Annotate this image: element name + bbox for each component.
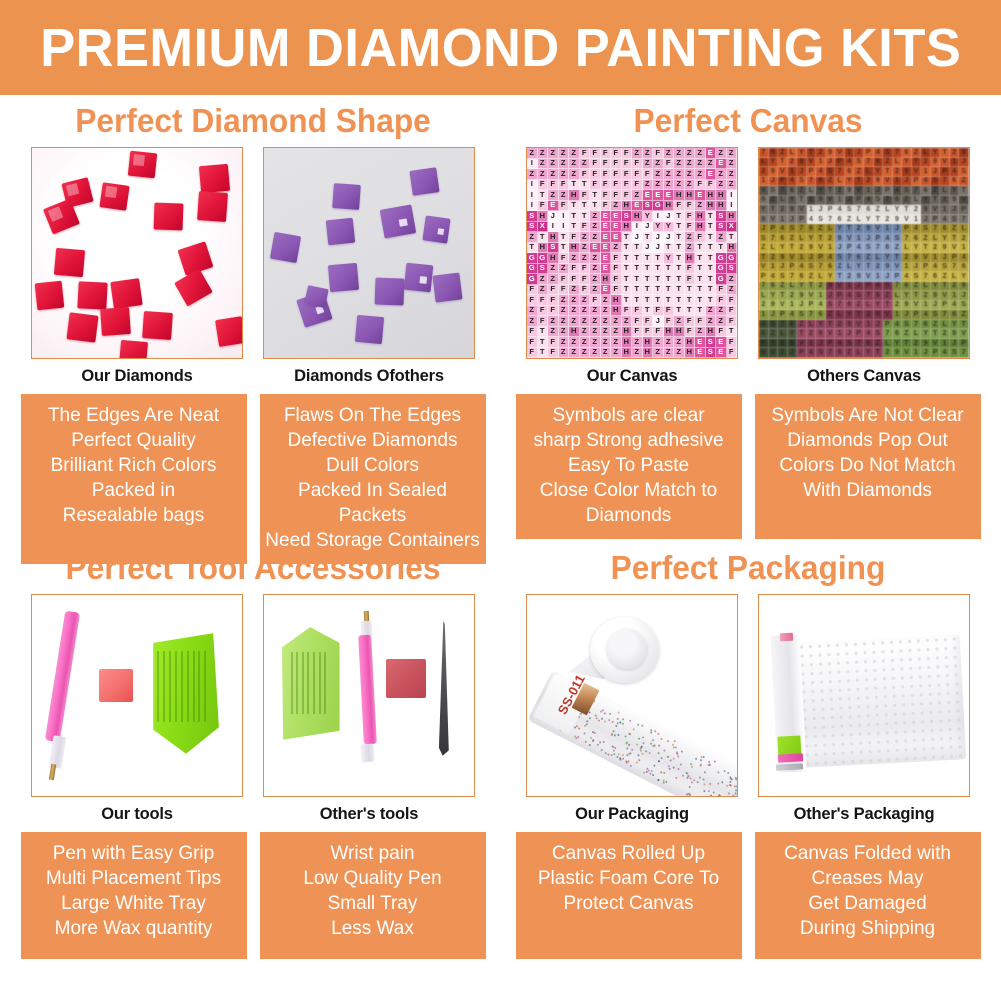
canvas-cell: 2	[854, 224, 864, 234]
canvas-cell: Y	[912, 243, 922, 253]
canvas-cell: V	[769, 215, 779, 225]
canvas-cell: 4	[797, 263, 807, 273]
canvas-cell: Z	[685, 243, 696, 254]
canvas-cell: P	[778, 177, 788, 187]
canvas-cell: T	[826, 320, 836, 330]
canvas-cell: Z	[590, 285, 601, 296]
canvas-cell: F	[527, 285, 538, 296]
canvas-cell: H	[716, 201, 727, 212]
canvas-cell: 9	[769, 167, 779, 177]
canvas-cell: L	[778, 329, 788, 339]
canvas-cell: T	[580, 180, 591, 191]
canvas-cell: F	[632, 327, 643, 338]
canvas-cell: P	[893, 272, 903, 282]
canvas-cell: Z	[611, 337, 622, 348]
canvas-cell: T	[643, 232, 654, 243]
canvas-cell: V	[854, 320, 864, 330]
canvas-cell: J	[874, 186, 884, 196]
canvas-cell: I	[559, 222, 570, 233]
canvas-cell: J	[778, 263, 788, 273]
canvas-cell: Z	[727, 169, 738, 180]
canvas-cell: T	[643, 306, 654, 317]
canvas-cell: F	[601, 169, 612, 180]
canvas-cell: 1	[854, 234, 864, 244]
canvas-cell: 4	[759, 186, 769, 196]
canvas-cell: 6	[912, 234, 922, 244]
canvas-cell: Z	[559, 148, 570, 159]
canvas-cell: T	[854, 310, 864, 320]
canvas-cell: 2	[864, 310, 874, 320]
canvas-cell: Z	[622, 316, 633, 327]
canvas-cell: S	[931, 310, 941, 320]
canvas-cell: Z	[826, 310, 836, 320]
canvas-cell: T	[674, 222, 685, 233]
canvas-cell: P	[902, 224, 912, 234]
canvas-cell: 1	[759, 177, 769, 187]
canvas-cell: 2	[912, 205, 922, 215]
canvas-cell: 6	[921, 320, 931, 330]
canvas-cell: 4	[864, 196, 874, 206]
canvas-cell: L	[883, 205, 893, 215]
canvas-cell: 6	[893, 196, 903, 206]
canvas-cell: T	[883, 167, 893, 177]
canvas-cell: F	[611, 148, 622, 159]
caption-row: Our Diamonds Diamonds Ofothers	[8, 367, 498, 386]
canvas-cell: 6	[893, 329, 903, 339]
canvas-cell: J	[759, 224, 769, 234]
canvas-cell: Z	[580, 243, 591, 254]
canvas-cell: Z	[931, 186, 941, 196]
canvas-cell: F	[632, 159, 643, 170]
section-title: Perfect Tool Accessories	[18, 545, 488, 591]
canvas-cell: L	[807, 186, 817, 196]
canvas-cell: F	[695, 180, 706, 191]
canvas-cell: Z	[559, 190, 570, 201]
canvas-cell: Z	[601, 306, 612, 317]
canvas-cell: T	[912, 291, 922, 301]
canvas-cell: 7	[778, 320, 788, 330]
canvas-cell: Z	[548, 190, 559, 201]
canvas-cell: J	[902, 310, 912, 320]
canvas-cell: 7	[788, 272, 798, 282]
canvas-cell: F	[548, 348, 559, 359]
canvas-cell: H	[643, 337, 654, 348]
canvas-cell: 4	[788, 310, 798, 320]
canvas-cell: Y	[845, 310, 855, 320]
canvas-cell: Z	[643, 148, 654, 159]
canvas-cell: Y	[816, 320, 826, 330]
canvas-cell: F	[685, 201, 696, 212]
canvas-cell: 1	[835, 329, 845, 339]
canvas-cell: S	[854, 158, 864, 168]
canvas-cell: S	[759, 234, 769, 244]
canvas-cell: 7	[854, 205, 864, 215]
canvas-cell: 7	[864, 291, 874, 301]
canvas-cell: Z	[874, 205, 884, 215]
canvas-cell: S	[883, 282, 893, 292]
canvas-cell: Z	[538, 169, 549, 180]
canvas-cell: F	[727, 295, 738, 306]
canvas-cell: Z	[590, 274, 601, 285]
canvas-cell: F	[611, 159, 622, 170]
canvas-cell: 9	[788, 339, 798, 349]
canvas-cell: J	[893, 224, 903, 234]
canvas-cell: 9	[835, 234, 845, 244]
canvas-cell: Z	[874, 339, 884, 349]
section-title: Perfect Canvas	[513, 98, 983, 144]
canvas-cell: J	[959, 291, 969, 301]
canvas-cell: Z	[727, 180, 738, 191]
canvas-cell: F	[706, 180, 717, 191]
canvas-cell: T	[569, 211, 580, 222]
canvas-cell: T	[902, 205, 912, 215]
canvas-cell: 4	[835, 339, 845, 349]
canvas-cell: Y	[664, 222, 675, 233]
canvas-cell: T	[643, 264, 654, 275]
canvas-cell: T	[643, 253, 654, 264]
canvas-cell: Y	[902, 291, 912, 301]
canvas-cell: Z	[727, 274, 738, 285]
canvas-cell: V	[826, 329, 836, 339]
section-tool-accessories: Perfect Tool Accessories	[8, 545, 498, 959]
canvas-cell: F	[716, 285, 727, 296]
canvas-cell: 2	[959, 234, 969, 244]
canvas-cell: F	[590, 295, 601, 306]
canvas-cell: P	[845, 243, 855, 253]
canvas-cell: Z	[706, 316, 717, 327]
canvas-cell: J	[807, 253, 817, 263]
canvas-cell: 1	[816, 291, 826, 301]
canvas-cell: T	[940, 282, 950, 292]
canvas-cell: H	[569, 243, 580, 254]
canvas-cell: 6	[883, 243, 893, 253]
canvas-cell: 9	[797, 291, 807, 301]
canvas-cell: 7	[959, 348, 969, 358]
canvas-cell: T	[674, 274, 685, 285]
canvas-cell: Y	[931, 148, 941, 158]
canvas-cell: T	[569, 180, 580, 191]
canvas-cell: H	[685, 337, 696, 348]
canvas-cell: L	[921, 282, 931, 292]
canvas-cell: T	[632, 274, 643, 285]
canvas-cell: T	[538, 232, 549, 243]
canvas-cell: 1	[883, 224, 893, 234]
canvas-cell: Z	[569, 306, 580, 317]
canvas-cell: Z	[845, 215, 855, 225]
canvas-cell: F	[601, 148, 612, 159]
canvas-cell: Y	[893, 339, 903, 349]
canvas-cell: Z	[685, 169, 696, 180]
canvas-cell: 4	[921, 177, 931, 187]
canvas-cell: Z	[921, 234, 931, 244]
canvas-cell: T	[632, 295, 643, 306]
canvas-cell: 6	[788, 186, 798, 196]
canvas-cell: F	[643, 316, 654, 327]
canvas-cell: H	[548, 232, 559, 243]
canvas-cell: V	[835, 282, 845, 292]
canvas-cell: P	[797, 215, 807, 225]
canvas-cell: 1	[893, 310, 903, 320]
canvas-cell: Z	[883, 291, 893, 301]
canvas-cell: F	[727, 337, 738, 348]
canvas-cell: S	[940, 263, 950, 273]
canvas-cell: 9	[874, 177, 884, 187]
canvas-cell: T	[902, 339, 912, 349]
canvas-cell: S	[816, 215, 826, 225]
canvas-cell: Z	[559, 316, 570, 327]
canvas-cell: 1	[950, 158, 960, 168]
canvas-cell: J	[931, 167, 941, 177]
canvas-cell: Y	[864, 215, 874, 225]
canvas-cell: 6	[874, 291, 884, 301]
canvas-cell: Z	[695, 148, 706, 159]
canvas-cell: H	[622, 337, 633, 348]
canvas-cell: T	[622, 232, 633, 243]
canvas-cell: 9	[921, 339, 931, 349]
canvas-cell: V	[816, 243, 826, 253]
canvas-cell: T	[695, 295, 706, 306]
canvas-cell: S	[527, 211, 538, 222]
canvas-cell: S	[959, 167, 969, 177]
canvas-cell: H	[643, 348, 654, 359]
canvas-cell: Z	[674, 159, 685, 170]
canvas-cell: F	[601, 180, 612, 191]
canvas-cell: Z	[940, 272, 950, 282]
canvas-cell: P	[959, 205, 969, 215]
canvas-cell: 1	[902, 263, 912, 273]
canvas-cell: L	[902, 243, 912, 253]
canvas-cell: Z	[569, 148, 580, 159]
canvas-cell: F	[611, 169, 622, 180]
canvas-cell: J	[921, 215, 931, 225]
canvas-cell: J	[788, 348, 798, 358]
canvas-cell: V	[940, 291, 950, 301]
canvas-cell: L	[835, 310, 845, 320]
canvas-cell: Y	[845, 177, 855, 187]
canvas-cell: 9	[845, 186, 855, 196]
canvas-cell: T	[685, 295, 696, 306]
canvas-cell: 9	[950, 329, 960, 339]
canvas-cell: F	[685, 222, 696, 233]
canvas-cell: L	[759, 291, 769, 301]
canvas-cell: X	[538, 222, 549, 233]
canvas-cell: P	[807, 301, 817, 311]
canvas-cell: L	[845, 263, 855, 273]
canvas-cell: F	[716, 327, 727, 338]
canvas-cell: T	[632, 243, 643, 254]
canvas-cell: Y	[653, 222, 664, 233]
canvas-cell: T	[653, 285, 664, 296]
canvas-cell: 4	[854, 243, 864, 253]
canvas-cell: V	[883, 177, 893, 187]
canvas-cell: Z	[580, 253, 591, 264]
canvas-cell: 7	[874, 243, 884, 253]
canvas-cell: Z	[580, 159, 591, 170]
canvas-cell: F	[632, 180, 643, 191]
canvas-cell: Y	[788, 196, 798, 206]
canvas-cell: J	[797, 167, 807, 177]
canvas-cell: I	[559, 211, 570, 222]
canvas-cell: J	[632, 232, 643, 243]
canvas-cell: 6	[816, 310, 826, 320]
canvas-cell: 9	[902, 301, 912, 311]
canvas-cell: F	[611, 274, 622, 285]
canvas-cell: L	[816, 272, 826, 282]
canvas-cell: 6	[759, 329, 769, 339]
canvas-cell: Z	[590, 316, 601, 327]
canvas-cell: 7	[807, 177, 817, 187]
canvas-cell: E	[643, 190, 654, 201]
canvas-cell: T	[769, 339, 779, 349]
canvas-cell: 1	[778, 348, 788, 358]
canvas-cell: 9	[816, 329, 826, 339]
canvas-cell: Z	[902, 329, 912, 339]
canvas-cell: Z	[548, 274, 559, 285]
canvas-cell: F	[538, 316, 549, 327]
comparison-boxes: Symbols are clear sharp Strong adhesive …	[503, 394, 993, 539]
canvas-cell: H	[674, 327, 685, 338]
caption-ours: Our tools	[31, 805, 243, 824]
canvas-cell: Y	[826, 272, 836, 282]
canvas-cell: L	[788, 148, 798, 158]
canvas-cell: 7	[940, 310, 950, 320]
canvas-cell: V	[778, 167, 788, 177]
canvas-cell: Z	[685, 180, 696, 191]
canvas-cell: T	[921, 243, 931, 253]
canvas-cell: 9	[959, 148, 969, 158]
canvas-cell: 4	[902, 272, 912, 282]
canvas-cell: E	[590, 243, 601, 254]
canvas-cell: 7	[893, 282, 903, 292]
canvas-cell: J	[643, 243, 654, 254]
canvas-cell: T	[797, 196, 807, 206]
comparison-boxes: Pen with Easy Grip Multi Placement Tips …	[8, 832, 498, 959]
canvas-cell: Z	[548, 169, 559, 180]
canvas-cell: V	[797, 205, 807, 215]
canvas-cell: F	[580, 274, 591, 285]
canvas-cell: J	[950, 205, 960, 215]
canvas-cell: V	[788, 253, 798, 263]
canvas-cell: I	[527, 190, 538, 201]
canvas-cell: H	[622, 327, 633, 338]
canvas-cell: P	[864, 282, 874, 292]
canvas-cell: E	[664, 190, 675, 201]
canvas-cell: V	[874, 224, 884, 234]
canvas-cell: 9	[950, 196, 960, 206]
canvas-cell: T	[538, 337, 549, 348]
caption-row: Our Packaging Other's Packaging	[503, 805, 993, 824]
canvas-cell: Y	[902, 158, 912, 168]
canvas-cell: T	[893, 253, 903, 263]
canvas-cell: 6	[864, 339, 874, 349]
canvas-cell: J	[874, 320, 884, 330]
canvas-cell: P	[959, 339, 969, 349]
canvas-cell: 4	[874, 282, 884, 292]
canvas-cell: I	[527, 159, 538, 170]
caption-ours: Our Diamonds	[31, 367, 243, 386]
canvas-cell: Z	[759, 243, 769, 253]
canvas-cell: H	[611, 295, 622, 306]
canvas-cell: S	[912, 272, 922, 282]
canvas-cell: F	[559, 274, 570, 285]
image-pair	[8, 147, 498, 359]
canvas-cell: T	[835, 272, 845, 282]
canvas-cell: 7	[912, 186, 922, 196]
canvas-cell: P	[826, 205, 836, 215]
image-our-packaging: SS-011	[526, 594, 738, 797]
canvas-cell: F	[559, 180, 570, 191]
canvas-cell: E	[601, 264, 612, 275]
canvas-cell: V	[759, 263, 769, 273]
canvas-cell: T	[950, 234, 960, 244]
canvas-cell: 9	[931, 158, 941, 168]
canvas-cell: Z	[527, 306, 538, 317]
canvas-cell: Y	[797, 148, 807, 158]
canvas-cell: E	[601, 285, 612, 296]
canvas-cell: 9	[893, 215, 903, 225]
canvas-cell: S	[950, 348, 960, 358]
canvas-cell: 1	[864, 186, 874, 196]
canvas-cell: L	[874, 253, 884, 263]
canvas-cell: L	[950, 272, 960, 282]
canvas-cell: T	[912, 158, 922, 168]
canvas-cell: 6	[769, 148, 779, 158]
canvas-cell: 1	[778, 215, 788, 225]
canvas-cell: Z	[674, 348, 685, 359]
canvas-cell: Z	[807, 272, 817, 282]
canvas-cell: 7	[950, 263, 960, 273]
canvas-cell: T	[632, 253, 643, 264]
canvas-cell: 1	[826, 243, 836, 253]
canvas-cell: S	[854, 291, 864, 301]
canvas-cell: F	[611, 190, 622, 201]
canvas-cell: T	[695, 253, 706, 264]
blurry-symbol-grid: 76ZLYT29V1JP4S76ZLYT29LYT29V1JP4S76ZLYT2…	[759, 148, 969, 358]
canvas-cell: 4	[950, 167, 960, 177]
canvas-cell: 7	[835, 167, 845, 177]
canvas-cell: 2	[912, 339, 922, 349]
canvas-cell: H	[685, 348, 696, 359]
canvas-cell: Y	[759, 205, 769, 215]
canvas-cell: Z	[826, 177, 836, 187]
canvas-cell: Z	[664, 180, 675, 191]
canvas-cell: 4	[835, 205, 845, 215]
canvas-cell: I	[632, 222, 643, 233]
canvas-cell: T	[706, 222, 717, 233]
canvas-cell: Z	[590, 327, 601, 338]
canvas-cell: Z	[548, 264, 559, 275]
canvas-cell: 1	[845, 282, 855, 292]
rolled-canvas-tube-photo: SS-011	[527, 595, 737, 796]
image-pair: SS-011	[503, 594, 993, 797]
canvas-cell: 6	[950, 177, 960, 187]
canvas-cell: P	[778, 310, 788, 320]
canvas-cell: V	[769, 348, 779, 358]
canvas-cell: F	[580, 169, 591, 180]
canvas-cell: 2	[788, 158, 798, 168]
canvas-cell: 7	[883, 196, 893, 206]
canvas-cell: 1	[921, 167, 931, 177]
canvas-cell: T	[622, 274, 633, 285]
canvas-cell: T	[622, 243, 633, 254]
canvas-cell: Z	[716, 306, 727, 317]
canvas-cell: T	[538, 348, 549, 359]
canvas-cell: Z	[727, 148, 738, 159]
canvas-cell: J	[826, 291, 836, 301]
canvas-cell: 2	[921, 158, 931, 168]
canvas-cell: 9	[807, 243, 817, 253]
canvas-cell: 2	[940, 196, 950, 206]
